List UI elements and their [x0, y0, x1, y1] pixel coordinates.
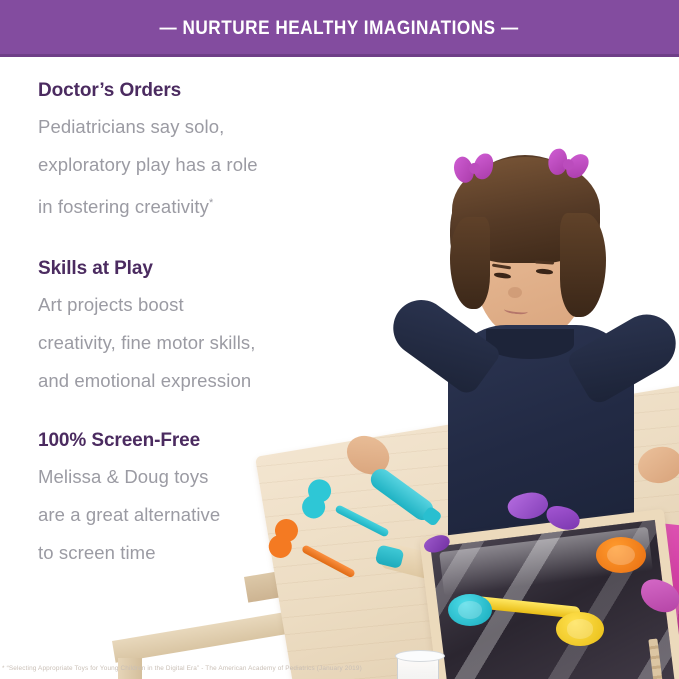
yellow-dough-lid [556, 612, 604, 646]
benefit-line: Melissa & Doug toys [38, 458, 338, 496]
benefits-copy: Doctor’s Orders Pediatricians say solo, … [38, 76, 338, 572]
benefit-line: and emotional expression [38, 362, 338, 400]
footnote-citation: * “Selecting Appropriate Toys for Young … [2, 665, 362, 672]
benefit-line: exploratory play has a role [38, 146, 338, 184]
benefit-line: are a great alternative [38, 496, 338, 534]
nose [508, 287, 522, 298]
benefit-line: to screen time [38, 534, 338, 572]
banner: — NURTURE HEALTHY IMAGINATIONS — [0, 0, 679, 57]
product-info-graphic: — NURTURE HEALTHY IMAGINATIONS — [0, 0, 679, 679]
benefit-block-screen-free: 100% Screen-Free Melissa & Doug toys are… [38, 426, 338, 572]
benefit-heading: Doctor’s Orders [38, 76, 338, 106]
benefit-line: creativity, fine motor skills, [38, 324, 338, 362]
benefit-heading: 100% Screen-Free [38, 426, 338, 456]
teal-dough-lid [448, 594, 492, 626]
benefit-line: Art projects boost [38, 286, 338, 324]
orange-dough-lid [596, 537, 646, 573]
footnote-marker: * [209, 197, 213, 209]
hair-side-right [560, 213, 606, 317]
benefit-block-doctors-orders: Doctor’s Orders Pediatricians say solo, … [38, 76, 338, 226]
benefit-line-text: in fostering creativity [38, 196, 209, 217]
table-apron [112, 610, 303, 663]
banner-title: — NURTURE HEALTHY IMAGINATIONS — [160, 17, 519, 40]
benefit-heading: Skills at Play [38, 254, 338, 284]
benefit-line: Pediatricians say solo, [38, 108, 338, 146]
white-cup [397, 653, 439, 679]
benefit-line-with-footnote-marker: in fostering creativity* [38, 184, 338, 226]
benefit-block-skills-at-play: Skills at Play Art projects boost creati… [38, 254, 338, 400]
hand-right [634, 441, 679, 489]
hair-side-left [450, 217, 490, 309]
